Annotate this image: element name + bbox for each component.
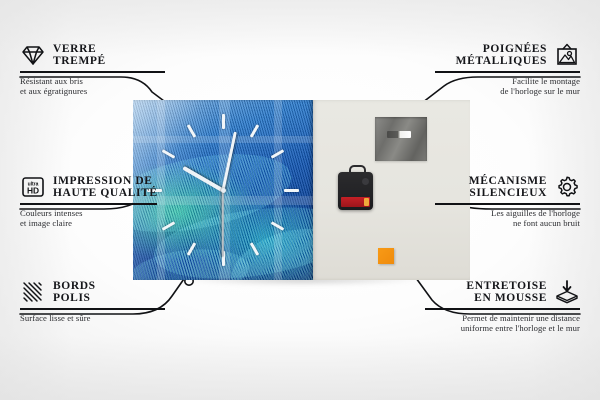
foam-spacer — [378, 248, 394, 264]
pattern-band — [133, 136, 313, 143]
clock-tick — [222, 114, 225, 129]
gear-icon — [554, 174, 580, 200]
diamond-icon — [20, 42, 46, 68]
callout-rule — [435, 203, 580, 205]
callout-verre-trempe: VERRETREMPÉ Résistant aux briset aux égr… — [20, 42, 165, 97]
infographic-canvas: VERRETREMPÉ Résistant aux briset aux égr… — [0, 0, 600, 400]
ultra-hd-icon: ultra HD — [20, 174, 46, 200]
callout-header: POIGNÉESMÉTALLIQUES — [435, 42, 580, 68]
callout-header: VERRETREMPÉ — [20, 42, 165, 68]
callout-title: IMPRESSION DEHAUTE QUALITÉ — [53, 175, 158, 200]
callout-header: ENTRETOISEEN MOUSSE — [425, 279, 580, 305]
callout-title: ENTRETOISEEN MOUSSE — [466, 280, 547, 305]
foam-spacer-icon — [554, 279, 580, 305]
clock-tick — [284, 189, 299, 192]
callout-header: ultra HD IMPRESSION DEHAUTE QUALITÉ — [20, 174, 165, 200]
product-image — [133, 100, 470, 280]
svg-text:HD: HD — [27, 186, 39, 196]
callout-title: VERRETREMPÉ — [53, 43, 106, 68]
polished-edges-icon — [20, 279, 46, 305]
callout-header: BORDSPOLIS — [20, 279, 165, 305]
setting-dial — [362, 178, 369, 185]
callout-impression: ultra HD IMPRESSION DEHAUTE QUALITÉ Coul… — [20, 174, 165, 229]
metal-hanger — [375, 117, 427, 161]
callout-title: BORDSPOLIS — [53, 280, 96, 305]
callout-description: Facilite le montagede l'horloge sur le m… — [435, 76, 580, 97]
callout-bords-polis: BORDSPOLIS Surface lisse et sûre — [20, 279, 165, 323]
callout-rule — [20, 203, 157, 205]
clock-second-hand — [222, 190, 224, 256]
callout-title: MÉCANISMESILENCIEUX — [469, 175, 547, 200]
callout-description: Les aiguilles de l'horlogene font aucun … — [435, 208, 580, 229]
callout-description: Permet de maintenir une distanceuniforme… — [425, 313, 580, 334]
clock-center-hub — [221, 188, 226, 193]
callout-description: Résistant aux briset aux égratignures — [20, 76, 165, 97]
hanger-slot — [387, 131, 411, 138]
framed-picture-icon — [554, 42, 580, 68]
callout-header: MÉCANISMESILENCIEUX — [435, 174, 580, 200]
hanging-loop — [349, 165, 366, 176]
callout-rule — [435, 71, 580, 73]
callout-mecanisme: MÉCANISMESILENCIEUX Les aiguilles de l'h… — [435, 174, 580, 229]
clock-mechanism — [338, 172, 373, 210]
callout-rule — [425, 308, 580, 310]
callout-rule — [20, 71, 165, 73]
callout-title: POIGNÉESMÉTALLIQUES — [456, 43, 547, 68]
callout-entretoise: ENTRETOISEEN MOUSSE Permet de maintenir … — [425, 279, 580, 334]
callout-poignees: POIGNÉESMÉTALLIQUES Facilite le montaged… — [435, 42, 580, 97]
callout-description: Surface lisse et sûre — [20, 313, 165, 324]
callout-description: Couleurs intenseset image claire — [20, 208, 165, 229]
callout-rule — [20, 308, 165, 310]
battery — [341, 197, 370, 207]
